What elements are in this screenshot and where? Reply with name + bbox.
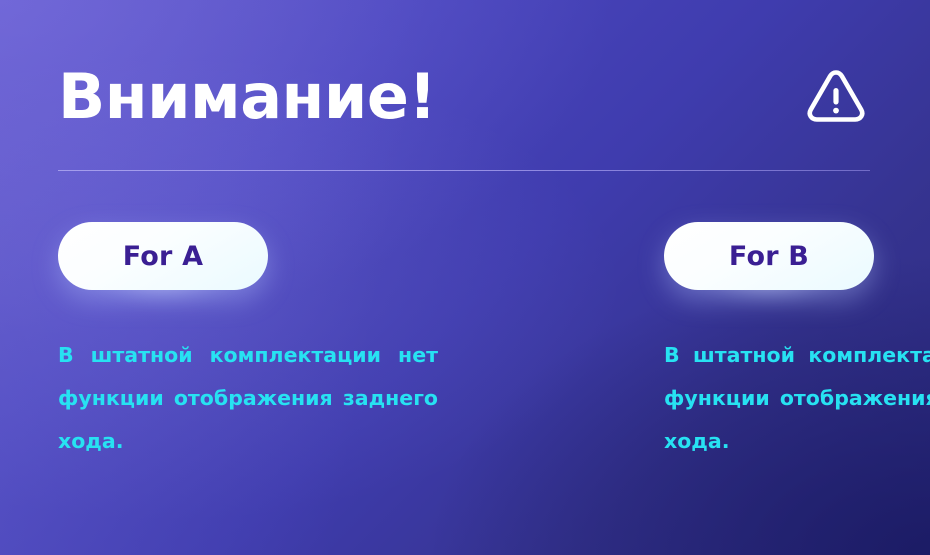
header-divider: [58, 170, 870, 171]
column-for-b: For B В штатной комплектации есть функци…: [664, 222, 930, 506]
warning-triangle-icon: [804, 64, 868, 128]
page-title: Внимание!: [58, 54, 436, 140]
slide-header: Внимание!: [58, 54, 872, 140]
button-for-b-label: For B: [729, 241, 809, 272]
slide-canvas: Внимание! For A В штатной комплектации н…: [0, 0, 930, 555]
button-for-b[interactable]: For B: [664, 222, 874, 290]
button-for-a-label: For A: [123, 241, 204, 272]
pill-wrap-for-b: For B: [664, 222, 874, 290]
button-for-a[interactable]: For A: [58, 222, 268, 290]
pill-wrap-for-a: For A: [58, 222, 268, 290]
column-for-a: For A В штатной комплектации нет функции…: [58, 222, 438, 506]
description-for-a: В штатной комплектации нет функции отобр…: [58, 290, 438, 506]
description-for-b: В штатной комплектации есть функции отоб…: [664, 290, 930, 506]
comparison-columns: For A В штатной комплектации нет функции…: [58, 222, 890, 506]
